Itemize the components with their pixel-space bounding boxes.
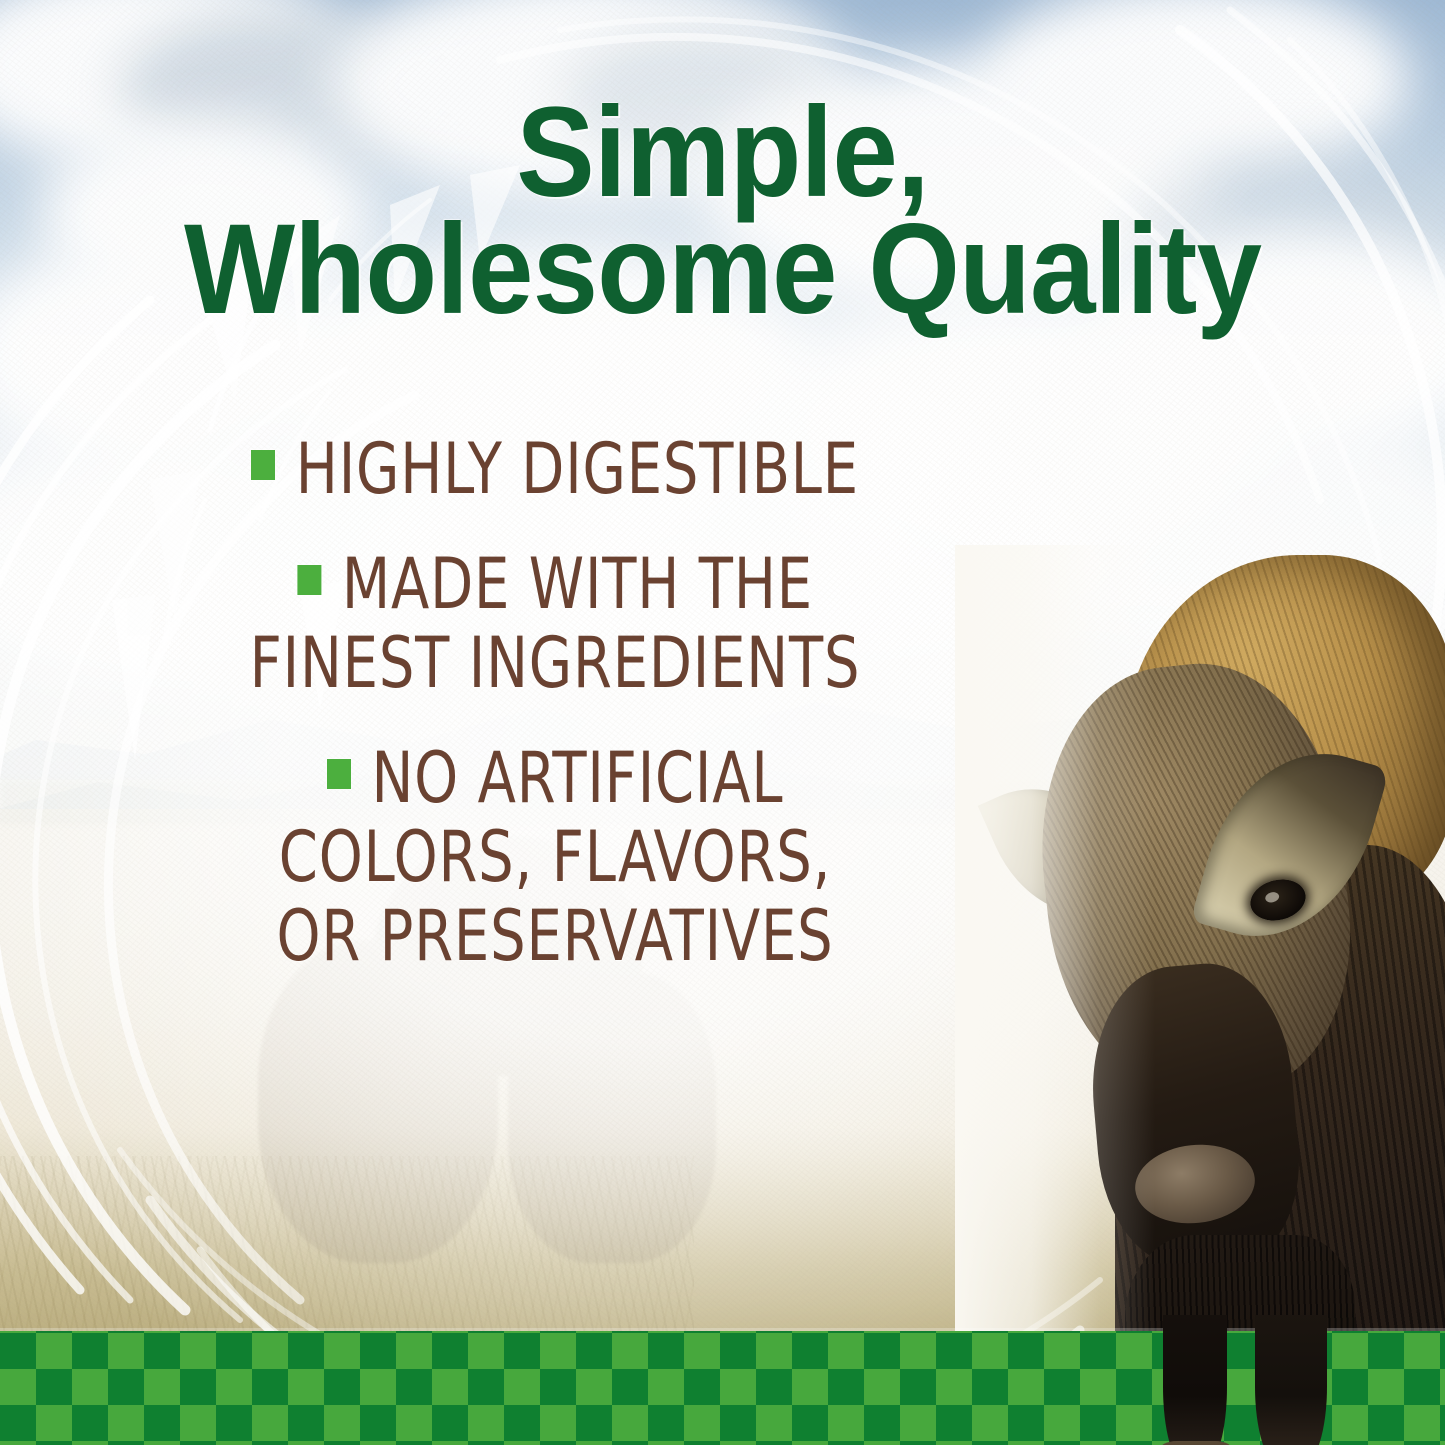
feature-list: HIGHLY DIGESTIBLE MADE WITH THE FINEST I… [60, 430, 1050, 977]
feature-item-2: MADE WITH THE FINEST INGREDIENTS [60, 545, 1050, 703]
bison-leg-front [1163, 1315, 1227, 1445]
bison-edge-fade [955, 545, 1155, 1445]
feature-3-text-1: NO ARTIFICIAL [371, 737, 783, 819]
product-feature-banner: Simple, Wholesome Quality HIGHLY DIGESTI… [0, 0, 1445, 1445]
feature-3-line-1: NO ARTIFICIAL [159, 739, 951, 818]
feature-2-text-1: MADE WITH THE [342, 543, 813, 625]
bison-legs-overlay [975, 1315, 1445, 1445]
green-square-bullet-icon [327, 759, 351, 789]
feature-1-text-1: HIGHLY DIGESTIBLE [296, 428, 859, 510]
feature-1-line-1: HIGHLY DIGESTIBLE [159, 430, 951, 509]
feature-3-line-3: OR PRESERVATIVES [159, 897, 951, 976]
bison-leg-rear [1255, 1315, 1327, 1445]
bison-hoof-front [1159, 1441, 1233, 1445]
feature-3-line-2: COLORS, FLAVORS, [159, 818, 951, 897]
feature-item-1: HIGHLY DIGESTIBLE [60, 430, 1050, 509]
feature-item-3: NO ARTIFICIAL COLORS, FLAVORS, OR PRESER… [60, 739, 1050, 976]
green-square-bullet-icon [251, 450, 275, 480]
feature-2-line-2: FINEST INGREDIENTS [159, 624, 951, 703]
bison-photo [975, 545, 1445, 1445]
green-square-bullet-icon [297, 565, 321, 595]
feature-2-line-1: MADE WITH THE [159, 545, 951, 624]
